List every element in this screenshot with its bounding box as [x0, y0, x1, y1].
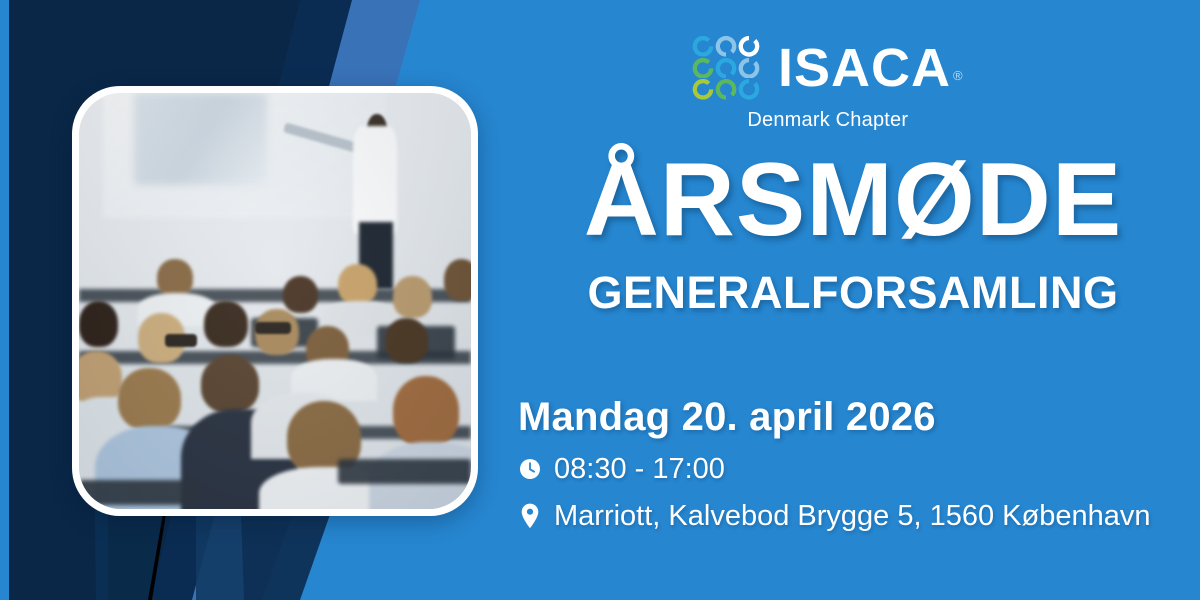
registered-trademark-icon: ® — [953, 69, 964, 82]
isaca-logo-lockup: ISACA ® Denmark Chapter — [692, 36, 964, 132]
event-time-text: 08:30 - 17:00 — [554, 452, 725, 487]
isaca-wordmark: ISACA ® — [778, 41, 964, 95]
event-location-text: Marriott, Kalvebod Brygge 5, 1560 Københ… — [554, 499, 1150, 534]
clock-icon — [518, 454, 542, 484]
event-time-line: 08:30 - 17:00 — [518, 452, 1178, 487]
conference-audience-photo — [79, 93, 471, 509]
chapter-name: Denmark Chapter — [747, 109, 908, 132]
page-subtitle: GENERALFORSAMLING — [506, 270, 1200, 315]
map-pin-icon — [518, 501, 542, 531]
content-column: ISACA ® Denmark Chapter ÅRSMØDE GENERALF… — [506, 0, 1200, 600]
page-title: ÅRSMØDE — [506, 148, 1200, 252]
photo-card — [72, 86, 478, 516]
event-banner: ISACA ® Denmark Chapter ÅRSMØDE GENERALF… — [0, 0, 1200, 600]
isaca-logo-mark — [692, 36, 760, 100]
event-location-line: Marriott, Kalvebod Brygge 5, 1560 Københ… — [518, 499, 1178, 534]
event-date: Mandag 20. april 2026 — [518, 394, 1178, 440]
event-details: Mandag 20. april 2026 08:30 - 17:00 — [518, 394, 1178, 534]
isaca-wordmark-text: ISACA — [778, 41, 951, 95]
